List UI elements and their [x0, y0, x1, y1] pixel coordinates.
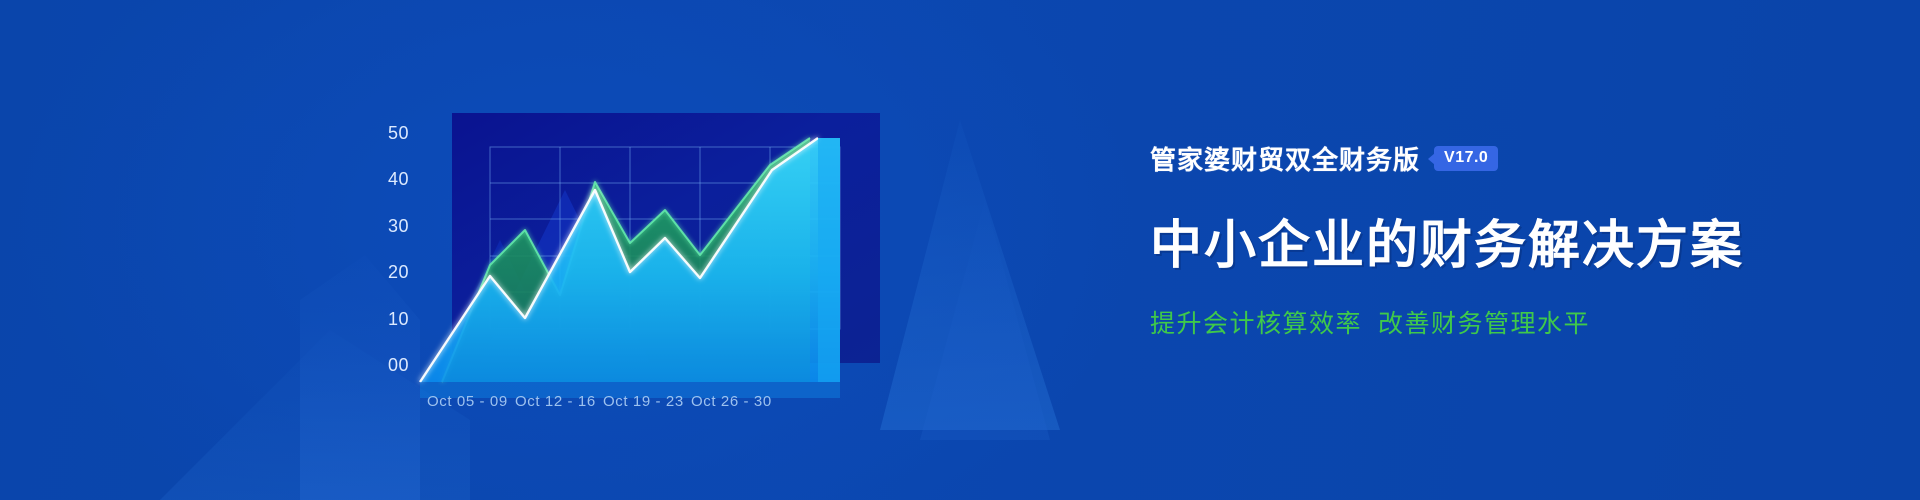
product-name: 管家婆财贸双全财务版	[1150, 140, 1420, 177]
headline: 中小企业的财务解决方案	[1150, 203, 1850, 278]
copy-column: 管家婆财贸双全财务版 V17.0 中小企业的财务解决方案 提升会计核算效率改善财…	[1150, 140, 1850, 340]
y-tick-40: 40	[388, 169, 409, 189]
y-tick-30: 30	[388, 216, 409, 236]
promo-banner: 50 40 30 20 10 00 Oct 05 - 09 Oct 12 - 1…	[0, 0, 1920, 500]
hero-area-chart: 50 40 30 20 10 00 Oct 05 - 09 Oct 12 - 1…	[380, 90, 940, 410]
subheadline-part-1: 提升会计核算效率	[1150, 310, 1362, 338]
x-tick-2: Oct 19 - 23	[603, 393, 684, 410]
subheadline: 提升会计核算效率改善财务管理水平	[1150, 304, 1850, 340]
subheadline-part-2: 改善财务管理水平	[1378, 310, 1590, 338]
x-tick-0: Oct 05 - 09	[427, 393, 508, 410]
version-badge: V17.0	[1434, 146, 1498, 171]
x-tick-3: Oct 26 - 30	[691, 393, 772, 410]
chart-svg: 50 40 30 20 10 00 Oct 05 - 09 Oct 12 - 1…	[380, 90, 940, 410]
y-tick-00: 00	[388, 355, 409, 375]
y-tick-10: 10	[388, 309, 409, 329]
y-tick-20: 20	[388, 262, 409, 282]
x-tick-1: Oct 12 - 16	[515, 393, 596, 410]
brand-row: 管家婆财贸双全财务版 V17.0	[1150, 140, 1850, 177]
y-axis-labels: 50 40 30 20 10 00	[388, 123, 409, 375]
y-tick-50: 50	[388, 123, 409, 143]
